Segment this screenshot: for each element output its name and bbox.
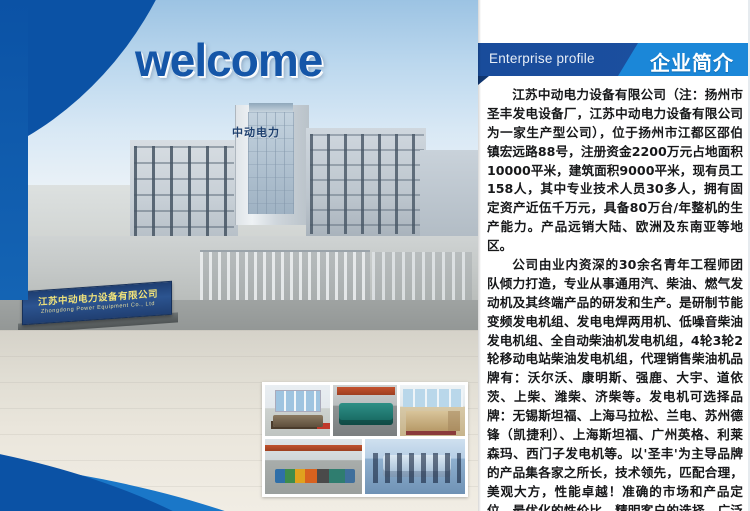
enterprise-profile-panel: Enterprise profile 企业简介 江苏中动电力设备有限公司（注：扬…: [478, 0, 750, 511]
generator-storage-photo: [265, 439, 362, 494]
building-left-windows: [134, 146, 234, 238]
photo-gallery-row-bottom: [265, 439, 465, 494]
welcome-headline: welcome: [135, 33, 322, 87]
profile-paragraph-2: 公司由业内资深的30余名青年工程师团队倾力打造，专业从事通用汽、柴油、燃气发动机…: [487, 256, 743, 511]
enterprise-profile-banner: Enterprise profile 企业简介: [478, 43, 750, 76]
conference-hall-photo: [365, 439, 465, 494]
office-area-photo: [400, 385, 465, 436]
building-far-right-block: [420, 150, 478, 245]
panel-divider-shadow: [478, 0, 481, 511]
factory-photo-panel: 中动电力 江苏中动电力设备有限公司 Zhongdong Power Equipm…: [0, 0, 478, 511]
meeting-room-photo: [265, 385, 330, 436]
banner-chinese-label: 企业简介: [650, 47, 734, 76]
building-right-windows: [310, 134, 424, 234]
banner-english-label: Enterprise profile: [489, 51, 595, 66]
building-tower-roof-cap: [249, 103, 293, 112]
generator-workshop-photo: [333, 385, 398, 436]
profile-paragraph-1: 江苏中动电力设备有限公司（注：扬州市圣丰发电设备厂，江苏中动电力设备有限公司为一…: [487, 86, 743, 256]
photo-gallery-row-top: [265, 385, 465, 436]
building-roof-sign-text: 中动电力: [232, 124, 280, 140]
photo-gallery: [262, 382, 468, 497]
decorative-left-blue-bar: [0, 0, 28, 300]
company-profile-page: 中动电力 江苏中动电力设备有限公司 Zhongdong Power Equipm…: [0, 0, 750, 511]
enterprise-profile-body: 江苏中动电力设备有限公司（注：扬州市圣丰发电设备厂，江苏中动电力设备有限公司为一…: [487, 86, 743, 511]
